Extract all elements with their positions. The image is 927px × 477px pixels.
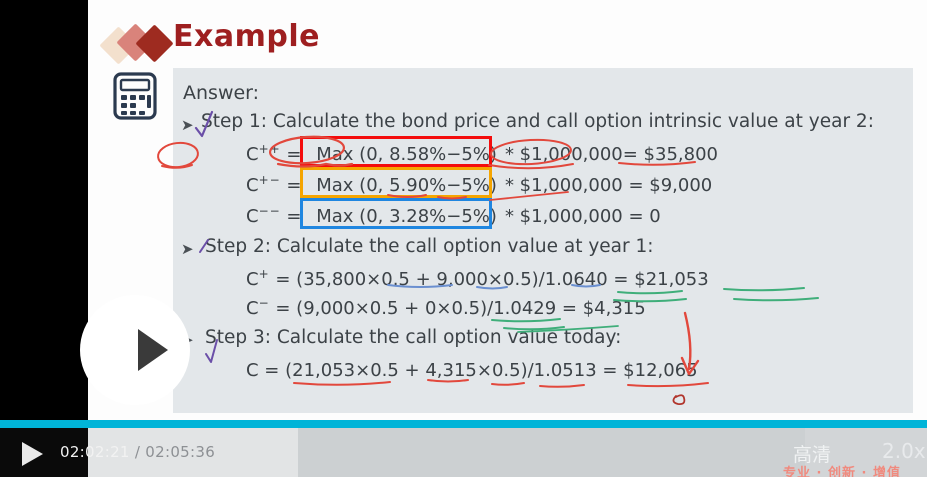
step-bullet-1: ➤ bbox=[181, 116, 194, 134]
control-bar-right-panel bbox=[298, 428, 805, 477]
equation-c-minus: C− = (9,000×0.5 + 0×0.5)/1.0429 = $4,315 bbox=[246, 296, 646, 319]
play-overlay-button[interactable] bbox=[80, 295, 190, 405]
step-heading-2: Step 2: Calculate the call option value … bbox=[205, 236, 654, 257]
answer-label: Answer: bbox=[183, 82, 259, 104]
current-time: 02:02:21 bbox=[60, 443, 130, 461]
diamonds-logo-icon bbox=[105, 26, 183, 64]
play-button[interactable] bbox=[22, 442, 43, 466]
total-time: 02:05:36 bbox=[145, 443, 215, 461]
step-bullet-2: ➤ bbox=[181, 240, 194, 258]
video-viewport[interactable]: Example bbox=[0, 0, 927, 420]
calculator-icon bbox=[113, 72, 157, 120]
presentation-slide: Example bbox=[88, 0, 927, 420]
playback-speed-selector[interactable]: 2.0x bbox=[882, 439, 926, 463]
player-control-bar: 02:02:21 / 02:05:36 高清 2.0x 专业 · 创新 · 增值 bbox=[0, 428, 927, 477]
progress-bar-fill bbox=[0, 420, 904, 428]
step-heading-1: Step 1: Calculate the bond price and cal… bbox=[201, 111, 874, 132]
video-player: Example bbox=[0, 0, 927, 477]
time-display: 02:02:21 / 02:05:36 bbox=[60, 443, 215, 461]
highlight-box-red bbox=[300, 136, 492, 167]
watermark-text: 专业 · 创新 · 增值 bbox=[783, 462, 901, 477]
step-heading-3: Step 3: Calculate the call option value … bbox=[205, 327, 621, 348]
equation-c-today: C = (21,053×0.5 + 4,315×0.5)/1.0513 = $1… bbox=[246, 360, 698, 381]
highlight-box-blue bbox=[300, 198, 492, 229]
answer-panel: Answer: ➤ Step 1: Calculate the bond pri… bbox=[173, 68, 913, 413]
progress-bar-track[interactable] bbox=[0, 420, 927, 428]
equation-c-plus: C+ = (35,800×0.5 + 9,000×0.5)/1.0640 = $… bbox=[246, 267, 709, 290]
page-title: Example bbox=[173, 19, 320, 54]
play-triangle-icon bbox=[138, 329, 168, 371]
highlight-box-orange bbox=[300, 167, 492, 198]
time-separator: / bbox=[135, 443, 140, 461]
